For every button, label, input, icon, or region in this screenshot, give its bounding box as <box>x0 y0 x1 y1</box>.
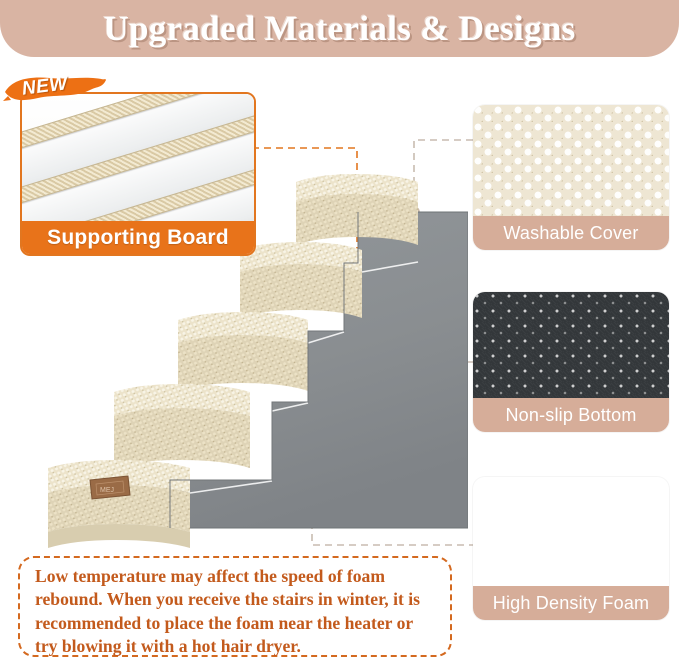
svg-text:MEJ: MEJ <box>100 487 114 494</box>
supporting-board-label: Supporting Board <box>22 221 254 254</box>
nonslip-bottom-texture <box>473 292 669 398</box>
nonslip-bottom-label: Non-slip Bottom <box>473 398 669 432</box>
high-density-foam-label: High Density Foam <box>473 586 669 620</box>
feature-panel-nonslip-bottom: Non-slip Bottom <box>473 292 669 432</box>
washable-cover-texture <box>473 105 669 216</box>
new-badge: NEW <box>2 72 112 106</box>
temperature-note-box: Low temperature may affect the speed of … <box>18 556 452 657</box>
header-banner: Upgraded Materials & Designs <box>0 0 679 57</box>
feature-panel-washable-cover: Washable Cover <box>473 105 669 250</box>
supporting-board-panel: Supporting Board <box>20 92 256 256</box>
page-title: Upgraded Materials & Designs <box>0 0 679 57</box>
leather-tag: MEJ <box>90 476 130 499</box>
feature-panel-high-density-foam: High Density Foam <box>473 477 669 620</box>
supporting-board-photo <box>22 94 254 221</box>
infographic-root: Upgraded Materials & Designs <box>0 0 679 671</box>
washable-cover-label: Washable Cover <box>473 216 669 250</box>
